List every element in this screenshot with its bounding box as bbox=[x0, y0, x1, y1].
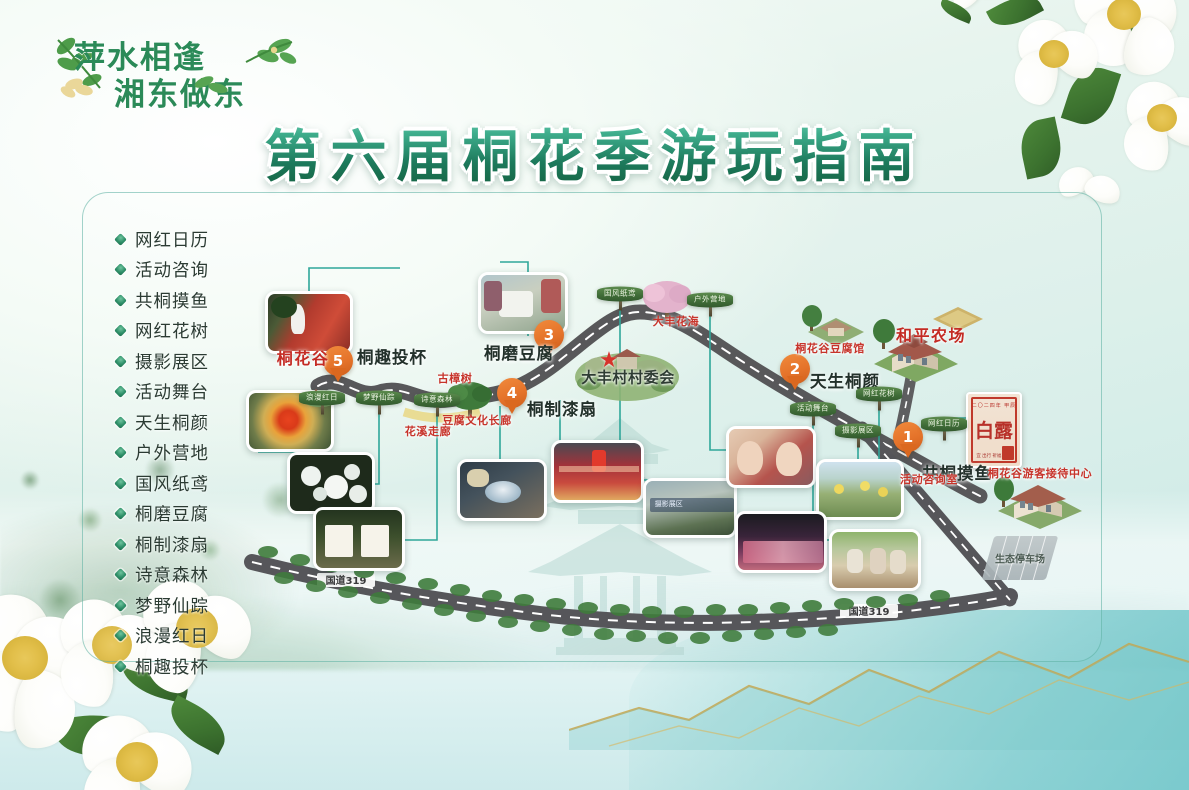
signpost-langmanhongri[interactable]: 浪漫红日 bbox=[299, 391, 345, 415]
doufu-hall-tree-icon bbox=[800, 303, 824, 333]
photo-sheyingzhanqu[interactable]: 摄影展区 bbox=[643, 478, 737, 538]
marker-number: 1 bbox=[893, 422, 923, 452]
signpost-post bbox=[436, 407, 439, 416]
signpost-label: 浪漫红日 bbox=[299, 391, 345, 406]
wanghong-calendar-poster[interactable]: 二〇二四年 甲辰 白露 宜 出行 祈福 纳采 bbox=[966, 392, 1022, 468]
photo-image: 摄影展区 bbox=[646, 481, 734, 535]
photo-image bbox=[832, 532, 918, 588]
place-label-doufu-hall: 桐花谷豆腐馆 bbox=[795, 340, 865, 356]
signpost-wanghongrili[interactable]: 网红日历 bbox=[921, 417, 967, 441]
place-label-eco-parking: 生态停车场 bbox=[995, 551, 1045, 566]
tourism-guide-poster: 萍水相逢 湘东做东 第六届桐花季游玩指南 网红日历 bbox=[0, 0, 1189, 790]
photo-huodongzixun[interactable] bbox=[735, 511, 827, 573]
signpost-label: 网红日历 bbox=[921, 417, 967, 432]
photo-image bbox=[554, 443, 641, 500]
map-marker-label-5: 桐趣投杯 bbox=[357, 344, 427, 368]
signpost-huodongwutai[interactable]: 活动舞台 bbox=[790, 402, 836, 426]
calendar-top-text: 二〇二四年 甲辰 bbox=[968, 402, 1020, 409]
place-label-village-committee: 大丰村村委会 bbox=[581, 367, 675, 388]
place-label-visitor-center: 桐花谷游客接待中心 bbox=[988, 465, 1092, 481]
photo-image bbox=[316, 510, 402, 568]
photo-tongzhiqishan[interactable] bbox=[457, 459, 547, 521]
photo-image bbox=[729, 429, 813, 485]
photo-mengyexianzong[interactable] bbox=[287, 452, 375, 514]
signpost-post bbox=[857, 438, 860, 447]
map-marker-2[interactable]: 2 bbox=[780, 354, 810, 394]
signpost-post bbox=[878, 401, 881, 410]
photo-image bbox=[819, 462, 901, 517]
signpost-post bbox=[943, 431, 946, 440]
place-label-dafeng-huahai: 大丰花海 bbox=[653, 313, 699, 329]
place-label-huaxi-corridor: 花溪走廊 bbox=[405, 423, 451, 439]
signpost-label: 户外营地 bbox=[687, 293, 733, 308]
place-label-consult-room: 活动咨询室 bbox=[900, 471, 958, 487]
place-label-tonghuagu: 桐花谷 bbox=[277, 345, 330, 369]
signpost-label: 国风纸鸢 bbox=[597, 287, 643, 302]
farm-tree-icon bbox=[871, 317, 897, 351]
map-marker-label-4: 桐制漆扇 bbox=[527, 396, 597, 420]
photo-image bbox=[460, 462, 544, 518]
signpost-mengyexianzong[interactable]: 梦野仙踪 bbox=[356, 391, 402, 415]
photo-gongtongmoyu[interactable] bbox=[829, 529, 921, 591]
signpost-label: 摄影展区 bbox=[835, 424, 881, 439]
signpost-post bbox=[709, 307, 712, 316]
signpost-label: 网红花树 bbox=[856, 387, 902, 402]
signpost-post bbox=[378, 405, 381, 414]
signpost-wanghonghuashu[interactable]: 网红花树 bbox=[856, 387, 902, 411]
map-marker-label-3: 桐磨豆腐 bbox=[484, 340, 554, 364]
calendar-day-block bbox=[1002, 446, 1014, 460]
signpost-sheyingzhanqu[interactable]: 摄影展区 bbox=[835, 424, 881, 448]
place-label-heping-farm: 和平农场 bbox=[896, 322, 966, 346]
photo-guofengzhiyuan[interactable] bbox=[816, 459, 904, 520]
signpost-post bbox=[619, 301, 622, 310]
photo-huodongwutai[interactable] bbox=[551, 440, 644, 503]
signpost-label: 活动舞台 bbox=[790, 402, 836, 417]
photo-shiyisenlin[interactable] bbox=[313, 507, 405, 571]
place-label-guzhangshu: 古樟树 bbox=[438, 370, 473, 386]
photo-tianshengtongyan[interactable] bbox=[726, 426, 816, 488]
place-label-doufu-corridor: 豆腐文化长廊 bbox=[442, 412, 512, 428]
photo-image bbox=[268, 294, 350, 351]
signpost-guofengzhiyuan[interactable]: 国风纸鸢 bbox=[597, 287, 643, 311]
photo-image bbox=[290, 455, 372, 511]
signpost-label: 梦野仙踪 bbox=[356, 391, 402, 406]
map-marker-1[interactable]: 1 bbox=[893, 422, 923, 462]
marker-number: 2 bbox=[780, 354, 810, 384]
calendar-big-text: 白露 bbox=[968, 416, 1020, 443]
photo-image bbox=[738, 514, 824, 570]
marker-number: 4 bbox=[497, 378, 527, 408]
signpost-post bbox=[812, 416, 815, 425]
signpost-post bbox=[321, 405, 324, 414]
signpost-label: 诗意森林 bbox=[414, 393, 460, 408]
